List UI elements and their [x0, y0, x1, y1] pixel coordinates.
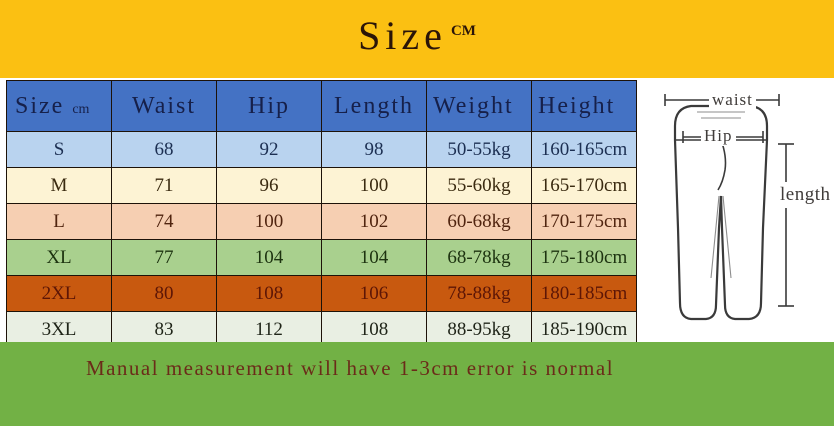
cell-size: M: [7, 168, 112, 204]
cell-waist: 77: [112, 240, 217, 276]
size-table: Size cm Waist Hip Length Weight Height S…: [6, 80, 637, 348]
header-band: SizeCM: [0, 0, 834, 78]
cell-height: 175-180cm: [532, 240, 637, 276]
cell-waist: 74: [112, 204, 217, 240]
column-header-length: Length: [322, 81, 427, 132]
cell-height: 160-165cm: [532, 132, 637, 168]
cell-length: 100: [322, 168, 427, 204]
column-header-size: Size cm: [7, 81, 112, 132]
size-chart-page: SizeCM Size cm Waist Hip Length Weight H…: [0, 0, 834, 426]
cell-weight: 50-55kg: [427, 132, 532, 168]
page-title-text: Size: [358, 13, 447, 58]
cell-hip: 108: [217, 276, 322, 312]
cell-height: 180-185cm: [532, 276, 637, 312]
cell-height: 165-170cm: [532, 168, 637, 204]
cell-hip: 104: [217, 240, 322, 276]
cell-waist: 71: [112, 168, 217, 204]
length-dimension-arrow: [778, 144, 794, 306]
cell-length: 104: [322, 240, 427, 276]
cell-length: 102: [322, 204, 427, 240]
table-header-row: Size cm Waist Hip Length Weight Height: [7, 81, 637, 132]
cell-weight: 78-88kg: [427, 276, 532, 312]
table-row: S 68 92 98 50-55kg 160-165cm: [7, 132, 637, 168]
pants-illustration-svg: [639, 78, 834, 342]
cell-length: 106: [322, 276, 427, 312]
cell-height: 170-175cm: [532, 204, 637, 240]
cell-waist: 80: [112, 276, 217, 312]
table-row: XL 77 104 104 68-78kg 175-180cm: [7, 240, 637, 276]
waist-measurement-label: waist: [709, 90, 756, 110]
cell-waist: 68: [112, 132, 217, 168]
column-header-hip: Hip: [217, 81, 322, 132]
column-header-height: Height: [532, 81, 637, 132]
hip-measurement-label: Hip: [701, 126, 736, 146]
cell-size: 2XL: [7, 276, 112, 312]
column-header-waist: Waist: [112, 81, 217, 132]
page-title: SizeCM: [0, 6, 834, 61]
table-row-highlighted: 2XL 80 108 106 78-88kg 180-185cm: [7, 276, 637, 312]
size-table-wrapper: Size cm Waist Hip Length Weight Height S…: [6, 80, 637, 342]
footer-band: [0, 342, 834, 426]
cell-size: S: [7, 132, 112, 168]
cell-size: L: [7, 204, 112, 240]
cell-length: 98: [322, 132, 427, 168]
cell-weight: 55-60kg: [427, 168, 532, 204]
length-measurement-label: length: [779, 182, 832, 208]
cell-size: XL: [7, 240, 112, 276]
cell-weight: 68-78kg: [427, 240, 532, 276]
measurement-note: Manual measurement will have 1-3cm error…: [0, 356, 700, 381]
cell-hip: 96: [217, 168, 322, 204]
column-header-weight: Weight: [427, 81, 532, 132]
page-title-unit: CM: [451, 23, 476, 39]
table-row: L 74 100 102 60-68kg 170-175cm: [7, 204, 637, 240]
cell-weight: 60-68kg: [427, 204, 532, 240]
pants-diagram: waist Hip length: [639, 78, 834, 342]
column-header-size-label: Size: [15, 93, 64, 119]
column-header-size-unit: cm: [72, 102, 89, 117]
cell-hip: 92: [217, 132, 322, 168]
table-row: M 71 96 100 55-60kg 165-170cm: [7, 168, 637, 204]
cell-hip: 100: [217, 204, 322, 240]
